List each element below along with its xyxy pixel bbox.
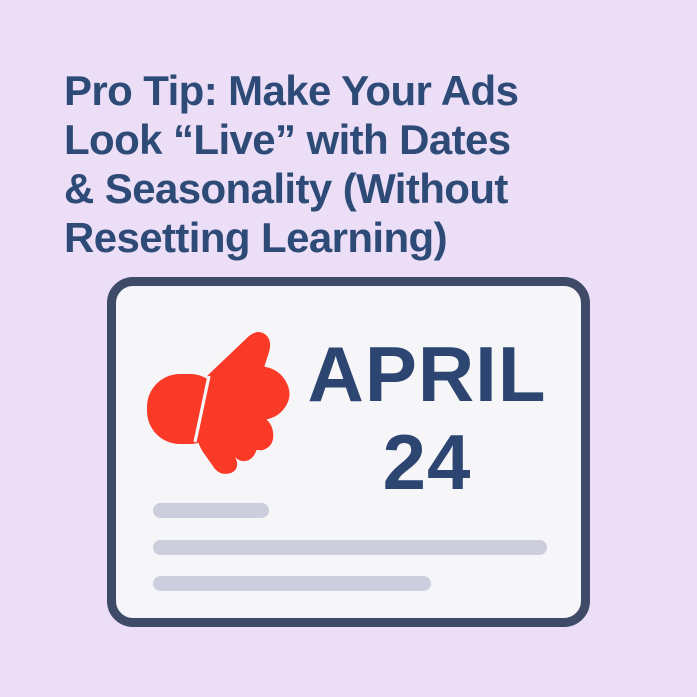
placeholder-bar	[153, 503, 269, 518]
megaphone-icon	[145, 330, 300, 490]
placeholder-bar	[153, 540, 547, 555]
date-display: APRIL 24	[306, 336, 548, 501]
poster-canvas: Pro Tip: Make Your Ads Look “Live” with …	[0, 0, 697, 697]
ad-preview-card: APRIL 24	[107, 277, 590, 627]
page-title: Pro Tip: Make Your Ads Look “Live” with …	[64, 66, 594, 262]
placeholder-bar	[153, 576, 431, 591]
placeholder-text-bars	[153, 503, 553, 591]
ad-preview-card-inner: APRIL 24	[116, 286, 581, 618]
date-month: APRIL	[306, 336, 548, 412]
date-day: 24	[306, 424, 548, 500]
